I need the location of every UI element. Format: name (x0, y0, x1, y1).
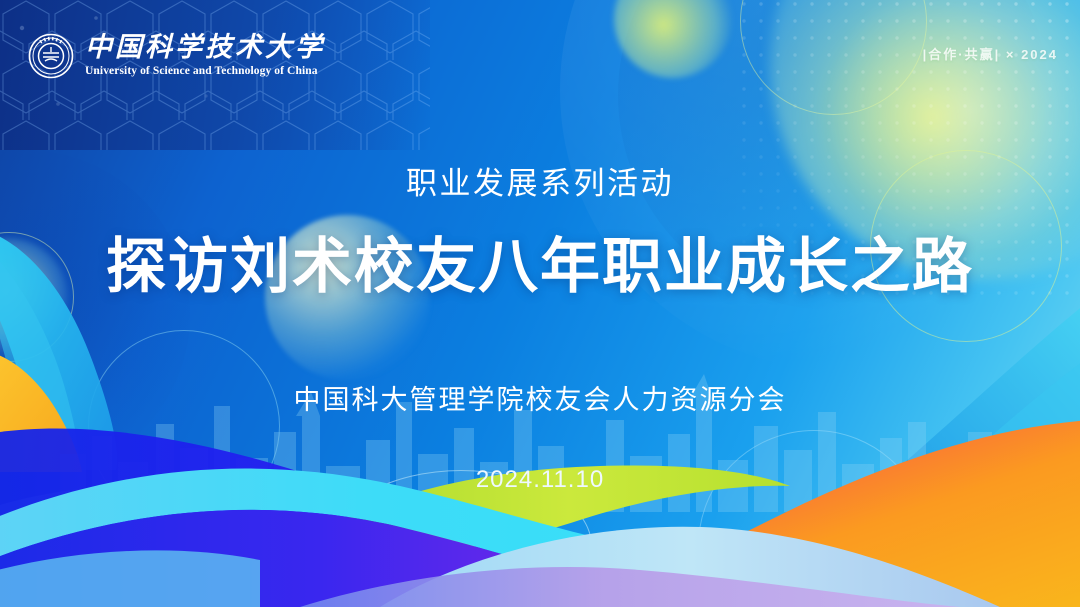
brand-logo: 中国科学技术大学 University of Science and Techn… (28, 33, 325, 79)
organizer-name: 中国科大管理学院校友会人力资源分会 (0, 378, 1080, 417)
lime-circle-small (614, 0, 732, 78)
tagline: |合作·共赢| × 2024 (923, 44, 1058, 63)
ring-outline-top (740, 0, 927, 115)
brand-name-cn: 中国科学技术大学 (85, 34, 325, 61)
event-poster: 中国科学技术大学 University of Science and Techn… (0, 0, 1080, 607)
ring-outline-right-lower (698, 430, 930, 607)
event-title: 探访刘术校友八年职业成长之路 (0, 218, 1080, 305)
ustc-seal-icon (28, 33, 74, 79)
event-subtitle: 职业发展系列活动 (0, 158, 1080, 203)
brand-name-en: University of Science and Technology of … (85, 66, 325, 78)
event-date: 2024.11.10 (0, 466, 1080, 494)
